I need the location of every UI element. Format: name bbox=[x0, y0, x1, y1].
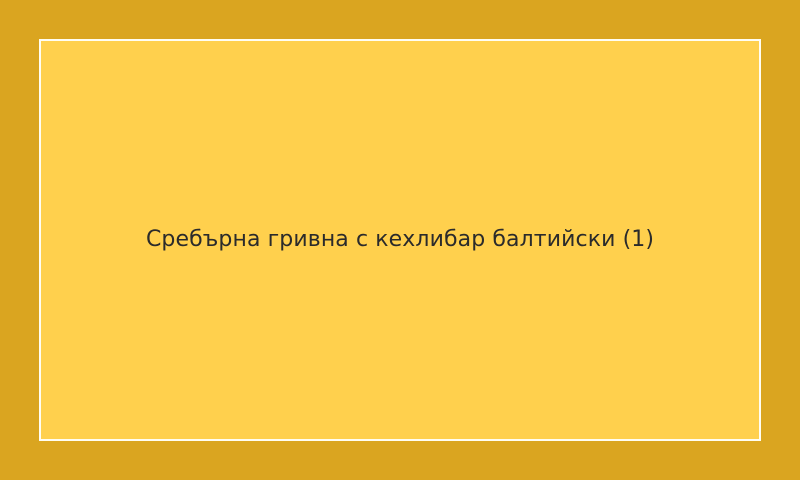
image-placeholder-canvas: Сребърна гривна с кехлибар балтийски (1) bbox=[0, 0, 800, 480]
image-placeholder-card: Сребърна гривна с кехлибар балтийски (1) bbox=[39, 39, 761, 441]
placeholder-caption-text: Сребърна гривна с кехлибар балтийски (1) bbox=[41, 225, 759, 255]
